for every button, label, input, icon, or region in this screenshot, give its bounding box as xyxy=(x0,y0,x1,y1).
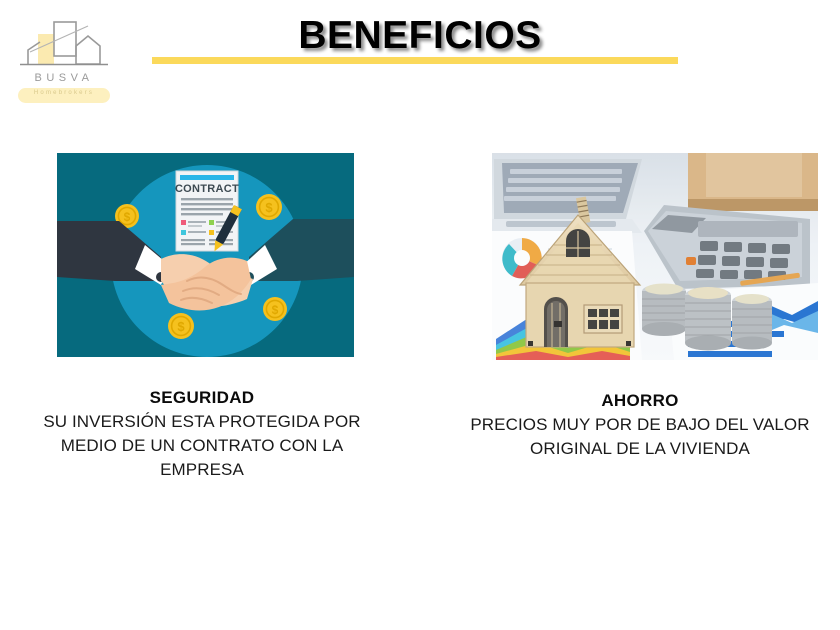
brand-logo: BUSVA Homebrokers xyxy=(14,18,114,104)
page-title: BENEFICIOS xyxy=(155,14,685,58)
benefit-heading: SEGURIDAD xyxy=(12,387,392,410)
benefit-body: SU INVERSIÓN ESTA PROTEGIDA POR MEDIO DE… xyxy=(12,410,392,482)
model-house-coins-photo xyxy=(492,153,818,360)
svg-text:$: $ xyxy=(124,210,131,224)
svg-text:$: $ xyxy=(177,319,185,334)
svg-text:$: $ xyxy=(265,200,273,215)
svg-text:CONTRACT: CONTRACT xyxy=(175,183,239,195)
brand-tagline: Homebrokers xyxy=(18,90,110,96)
title-underline-rule xyxy=(152,57,678,64)
buildings-outline-icon xyxy=(14,18,114,74)
benefit-heading: AHORRO xyxy=(450,390,830,413)
benefit-caption-ahorro: AHORRO PRECIOS MUY POR DE BAJO DEL VALOR… xyxy=(450,390,830,461)
slide-root: BUSVA Homebrokers BENEFICIOS CONTRACT xyxy=(0,0,840,630)
brand-name: BUSVA xyxy=(14,72,114,84)
handshake-contract-illustration: CONTRACT xyxy=(57,153,354,357)
benefit-column-ahorro: AHORRO PRECIOS MUY POR DE BAJO DEL VALOR… xyxy=(450,153,830,461)
benefit-caption-seguridad: SEGURIDAD SU INVERSIÓN ESTA PROTEGIDA PO… xyxy=(12,387,392,482)
benefit-body: PRECIOS MUY POR DE BAJO DEL VALOR ORIGIN… xyxy=(450,413,830,461)
svg-text:$: $ xyxy=(272,303,279,317)
benefit-column-seguridad: CONTRACT xyxy=(12,153,392,482)
